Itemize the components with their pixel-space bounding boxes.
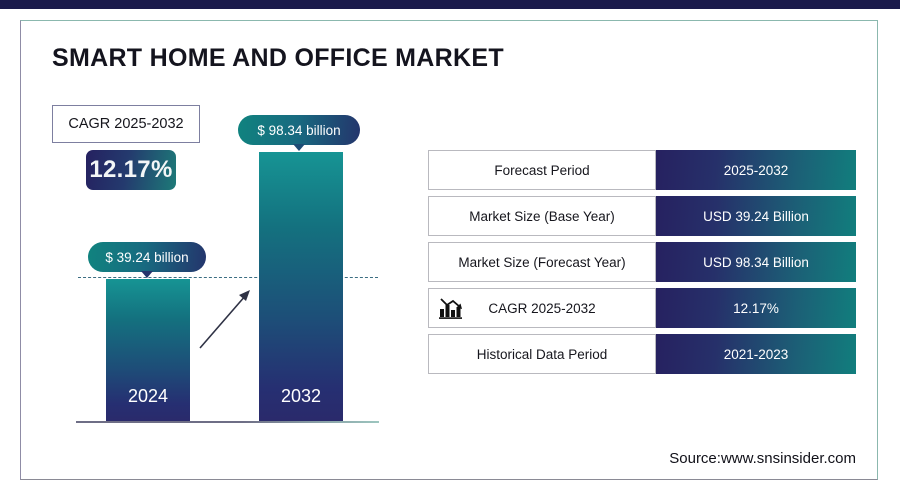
bar-value-callout-2032: $ 98.34 billion <box>238 115 360 145</box>
spec-value-cell: USD 98.34 Billion <box>656 242 856 282</box>
spec-value-cell: USD 39.24 Billion <box>656 196 856 236</box>
bar-category-label-2032: 2032 <box>259 386 343 407</box>
growth-arrow-icon <box>192 282 262 354</box>
spec-value-cell: 2025-2032 <box>656 150 856 190</box>
bar-value-label-2024: $ 39.24 billion <box>105 250 188 265</box>
spec-value-text: USD 39.24 Billion <box>703 209 809 224</box>
spec-label-text: Forecast Period <box>494 163 589 178</box>
bar-value-callout-2024: $ 39.24 billion <box>88 242 206 272</box>
bar-2024: 2024 <box>106 279 190 421</box>
spec-label-text: Market Size (Base Year) <box>469 209 615 224</box>
table-row: CAGR 2025-2032 12.17% <box>428 288 856 328</box>
spec-value-text: 2021-2023 <box>724 347 789 362</box>
bar-chart-trend-icon <box>439 297 465 319</box>
spec-label-text: Historical Data Period <box>477 347 608 362</box>
table-row: Forecast Period 2025-2032 <box>428 150 856 190</box>
spec-label-text: CAGR 2025-2032 <box>488 301 595 316</box>
spec-table: Forecast Period 2025-2032 Market Size (B… <box>428 150 856 380</box>
bar-value-label-2032: $ 98.34 billion <box>257 123 340 138</box>
spec-label-cell: Historical Data Period <box>428 334 656 374</box>
spec-label-cell: Forecast Period <box>428 150 656 190</box>
source-attribution: Source:www.snsinsider.com <box>669 450 856 467</box>
spec-value-text: USD 98.34 Billion <box>703 255 809 270</box>
spec-value-text: 2025-2032 <box>724 163 789 178</box>
table-row: Market Size (Base Year) USD 39.24 Billio… <box>428 196 856 236</box>
chart-baseline-axis <box>76 421 379 423</box>
table-row: Historical Data Period 2021-2023 <box>428 334 856 374</box>
spec-label-cell: Market Size (Forecast Year) <box>428 242 656 282</box>
spec-label-cell: CAGR 2025-2032 <box>428 288 656 328</box>
bar-category-label-2024: 2024 <box>106 386 190 407</box>
bar-chart: $ 39.24 billion $ 98.34 billion 2024 203… <box>0 0 420 500</box>
spec-label-text: Market Size (Forecast Year) <box>458 255 625 270</box>
bar-2032: 2032 <box>259 152 343 421</box>
spec-value-cell: 12.17% <box>656 288 856 328</box>
infographic-canvas: SMART HOME AND OFFICE MARKET CAGR 2025-2… <box>0 0 900 500</box>
table-row: Market Size (Forecast Year) USD 98.34 Bi… <box>428 242 856 282</box>
spec-value-cell: 2021-2023 <box>656 334 856 374</box>
spec-value-text: 12.17% <box>733 301 779 316</box>
spec-label-cell: Market Size (Base Year) <box>428 196 656 236</box>
